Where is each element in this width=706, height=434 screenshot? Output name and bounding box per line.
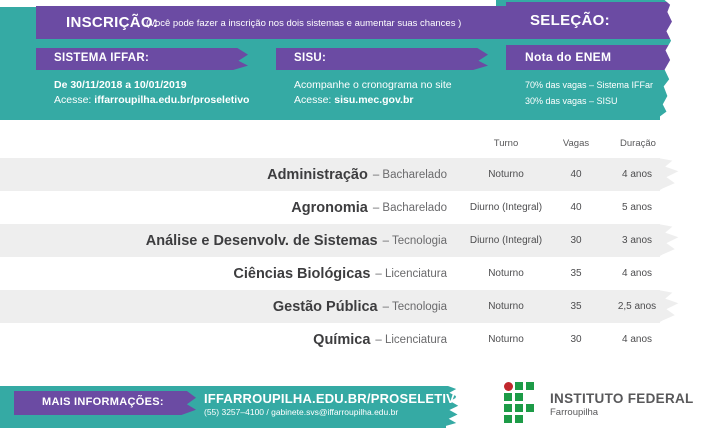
sistema-iffar-access-label: Acesse: bbox=[54, 94, 91, 106]
course-vagas: 40 bbox=[556, 158, 596, 191]
course-type: – Licenciatura bbox=[375, 268, 447, 280]
course-vagas: 30 bbox=[556, 224, 596, 257]
course-vagas: 30 bbox=[556, 323, 596, 356]
course-duracao: 2,5 anos bbox=[606, 290, 668, 323]
course-name: Agronomia bbox=[291, 200, 368, 216]
sisu-url[interactable]: sisu.mec.gov.br bbox=[334, 94, 413, 106]
table-row[interactable]: Agronomia– BachareladoDiurno (Integral)4… bbox=[0, 191, 706, 224]
course-turno: Noturno bbox=[466, 290, 546, 323]
selecao-title: SELEÇÃO: bbox=[530, 12, 610, 29]
course-turno: Noturno bbox=[466, 257, 546, 290]
column-header-vagas: Vagas bbox=[556, 138, 596, 149]
course-name: Administração bbox=[267, 167, 368, 183]
course-duracao: 3 anos bbox=[606, 224, 668, 257]
course-name: Gestão Pública bbox=[273, 299, 378, 315]
sistema-iffar-dates: De 30/11/2018 a 10/01/2019 bbox=[54, 79, 187, 91]
course-cell: Química– Licenciatura bbox=[0, 323, 455, 356]
course-turno: Noturno bbox=[466, 323, 546, 356]
course-name: Ciências Biológicas bbox=[233, 266, 370, 282]
table-row[interactable]: Gestão Pública– TecnologiaNoturno352,5 a… bbox=[0, 290, 706, 323]
column-header-duracao: Duração bbox=[608, 138, 668, 149]
sisu-access-label: Acesse: bbox=[294, 94, 331, 106]
course-vagas: 40 bbox=[556, 191, 596, 224]
course-turno: Noturno bbox=[466, 158, 546, 191]
logo-title: INSTITUTO FEDERAL bbox=[550, 391, 694, 406]
column-header-turno: Turno bbox=[471, 138, 541, 149]
footer-contact[interactable]: (55) 3257–4100 / gabinete.svs@iffarroupi… bbox=[204, 407, 398, 417]
instituto-federal-logo: INSTITUTO FEDERAL Farroupilha bbox=[500, 380, 700, 426]
table-row[interactable]: Química– LicenciaturaNoturno304 anos bbox=[0, 323, 706, 356]
nota-enem-title: Nota do ENEM bbox=[525, 50, 611, 64]
course-type: – Licenciatura bbox=[375, 334, 447, 346]
table-row[interactable]: Análise e Desenvolv. de Sistemas– Tecnol… bbox=[0, 224, 706, 257]
table-row[interactable]: Ciências Biológicas– LicenciaturaNoturno… bbox=[0, 257, 706, 290]
nota-vagas-iffar: 70% das vagas – Sistema IFFar bbox=[525, 80, 653, 90]
sistema-iffar-url[interactable]: iffarroupilha.edu.br/proseletivo bbox=[94, 94, 249, 106]
proseletivo-infographic: INSCRIÇÃO: (Você pode fazer a inscrição … bbox=[0, 0, 706, 434]
course-vagas: 35 bbox=[556, 257, 596, 290]
course-type: – Bacharelado bbox=[373, 169, 447, 181]
course-type: – Bacharelado bbox=[373, 202, 447, 214]
nota-vagas-sisu: 30% das vagas – SISU bbox=[525, 96, 618, 106]
sisu-info: Acompanhe o cronograma no site bbox=[294, 79, 452, 91]
logo-subtitle: Farroupilha bbox=[550, 407, 598, 418]
course-cell: Administração– Bacharelado bbox=[0, 158, 455, 191]
inscricao-note: (Você pode fazer a inscrição nos dois si… bbox=[146, 18, 461, 29]
course-type: – Tecnologia bbox=[383, 235, 447, 247]
footer-site-url[interactable]: IFFARROUPILHA.EDU.BR/PROSELETIVO bbox=[204, 391, 465, 406]
inscricao-title: INSCRIÇÃO: bbox=[66, 14, 158, 31]
course-name: Química bbox=[313, 332, 370, 348]
course-duracao: 4 anos bbox=[606, 323, 668, 356]
course-duracao: 5 anos bbox=[606, 191, 668, 224]
course-cell: Gestão Pública– Tecnologia bbox=[0, 290, 455, 323]
course-turno: Diurno (Integral) bbox=[466, 224, 546, 257]
course-cell: Ciências Biológicas– Licenciatura bbox=[0, 257, 455, 290]
banner: INSCRIÇÃO: (Você pode fazer a inscrição … bbox=[0, 0, 706, 120]
course-vagas: 35 bbox=[556, 290, 596, 323]
sistema-iffar-access: Acesse: iffarroupilha.edu.br/proseletivo bbox=[54, 94, 249, 106]
sisu-access: Acesse: sisu.mec.gov.br bbox=[294, 94, 413, 106]
mais-informacoes-label: MAIS INFORMAÇÕES: bbox=[42, 396, 164, 408]
if-grid-icon bbox=[504, 382, 542, 422]
course-duracao: 4 anos bbox=[606, 158, 668, 191]
course-turno: Diurno (Integral) bbox=[466, 191, 546, 224]
sisu-title: SISU: bbox=[294, 52, 326, 64]
course-cell: Agronomia– Bacharelado bbox=[0, 191, 455, 224]
course-name: Análise e Desenvolv. de Sistemas bbox=[146, 233, 378, 249]
course-duracao: 4 anos bbox=[606, 257, 668, 290]
table-row[interactable]: Administração– BachareladoNoturno404 ano… bbox=[0, 158, 706, 191]
course-cell: Análise e Desenvolv. de Sistemas– Tecnol… bbox=[0, 224, 455, 257]
sistema-iffar-title: SISTEMA IFFAR: bbox=[54, 52, 149, 64]
courses-table: Turno Vagas Duração Administração– Bacha… bbox=[0, 130, 706, 365]
course-type: – Tecnologia bbox=[383, 301, 447, 313]
